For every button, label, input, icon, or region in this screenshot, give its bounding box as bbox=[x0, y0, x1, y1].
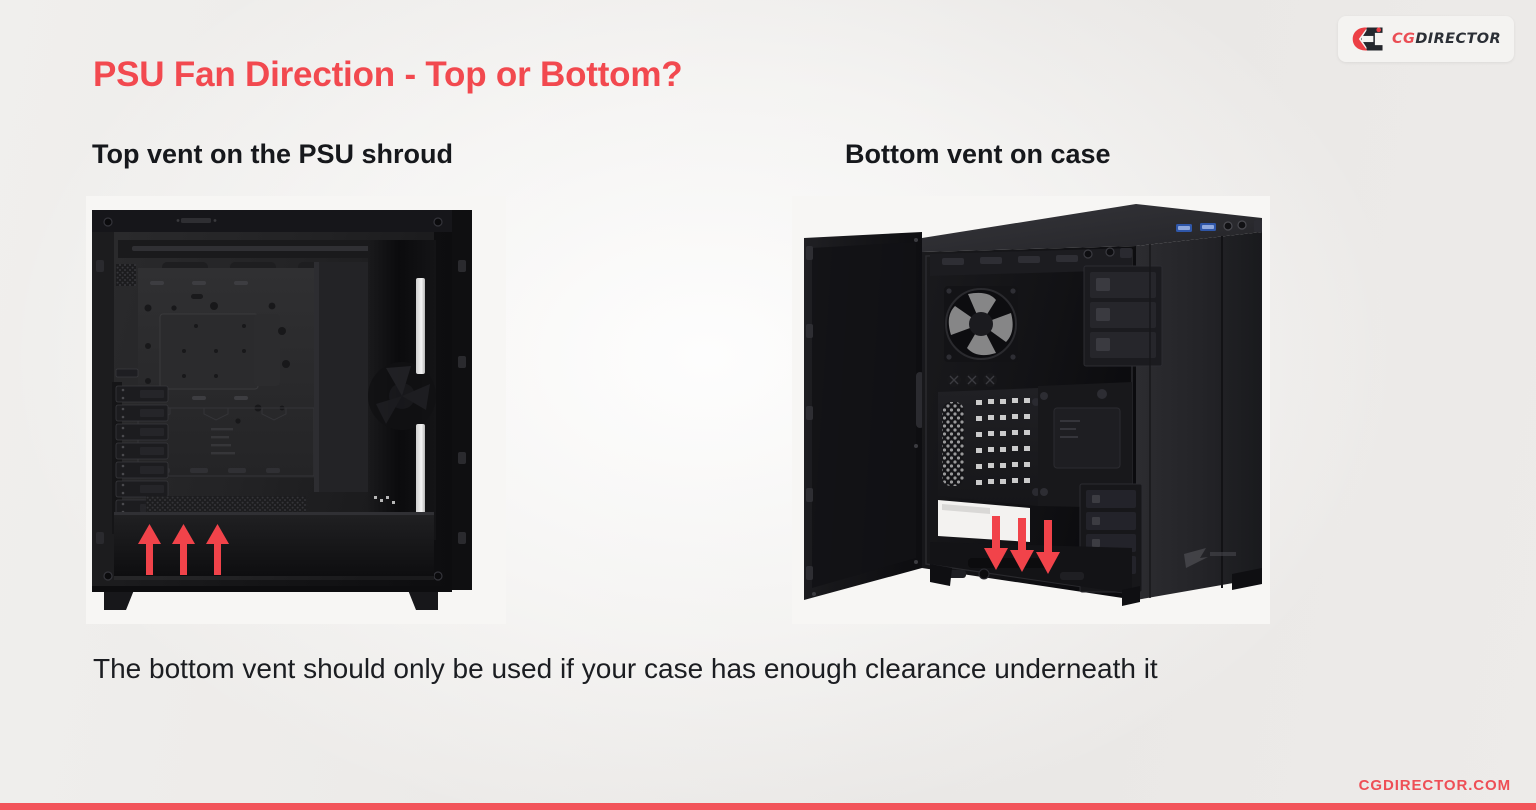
watermark-url: CGDIRECTOR.COM bbox=[1359, 777, 1511, 794]
open-side-panel bbox=[804, 232, 924, 600]
caption-text: The bottom vent should only be used if y… bbox=[93, 650, 1393, 688]
logo-text-cg: CG bbox=[1392, 31, 1415, 47]
cgdirector-g-mark-icon bbox=[1351, 26, 1385, 52]
cgdirector-logo[interactable]: CGDIRECTOR bbox=[1338, 16, 1514, 62]
column-heading-right: Bottom vent on case bbox=[845, 139, 1111, 170]
column-heading-left: Top vent on the PSU shroud bbox=[92, 139, 453, 170]
corsair-pc-case-open-panel-photo bbox=[792, 196, 1270, 624]
airflow-up-arrows bbox=[138, 524, 229, 575]
logo-text-director: DIRECTOR bbox=[1415, 31, 1501, 47]
airflow-down-arrows bbox=[984, 516, 1060, 574]
logo-wordmark: CGDIRECTOR bbox=[1392, 31, 1501, 47]
case-chassis bbox=[922, 204, 1262, 606]
pc-case-interior-psu-shroud-photo bbox=[86, 196, 506, 624]
bottom-accent-bar bbox=[0, 803, 1536, 810]
page-title: PSU Fan Direction - Top or Bottom? bbox=[93, 55, 682, 95]
rear-exhaust-fan bbox=[944, 286, 1018, 362]
